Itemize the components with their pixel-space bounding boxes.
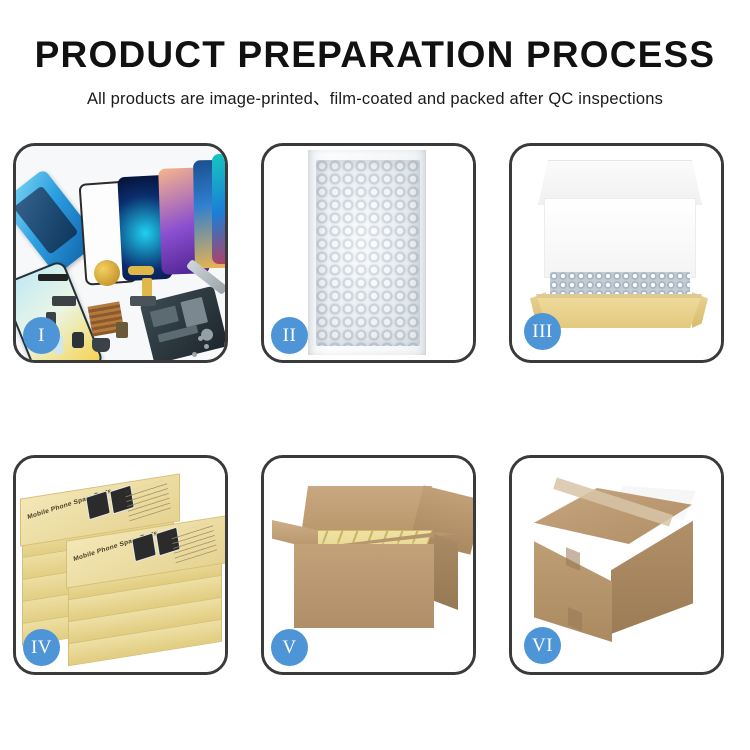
box-spec-lines: [125, 479, 171, 521]
foam-sheet: [544, 198, 696, 278]
steps-row-1: I II: [13, 143, 739, 363]
box-screen-image: [85, 490, 110, 520]
page-title: PRODUCT PREPARATION PROCESS: [0, 34, 750, 76]
steps-grid: I II: [13, 143, 739, 675]
steps-row-2: Mobile Phone Spare Parts Mobile Phone Sp…: [13, 455, 739, 675]
product-preparation-infographic: PRODUCT PREPARATION PROCESS All products…: [0, 0, 750, 750]
box-screen-image: [131, 532, 156, 562]
step-card-3[interactable]: III: [509, 143, 724, 363]
step-card-2[interactable]: II: [261, 143, 476, 363]
carton-right-side: [434, 534, 458, 610]
step-card-5[interactable]: V: [261, 455, 476, 675]
carton-front-face: [294, 544, 434, 628]
step-badge-6: VI: [524, 627, 561, 664]
speaker-part-icon: [94, 260, 120, 286]
step-badge-5: V: [271, 629, 308, 666]
bubble-wrap-edges: [308, 150, 426, 355]
step-card-6[interactable]: VI: [509, 455, 724, 675]
step-card-1[interactable]: I: [13, 143, 228, 363]
box-stack: Mobile Phone Spare Parts Mobile Phone Sp…: [20, 476, 224, 656]
box-spec-lines: [171, 521, 217, 563]
step-badge-2: II: [271, 317, 308, 354]
step-card-4[interactable]: Mobile Phone Spare Parts Mobile Phone Sp…: [13, 455, 228, 675]
step-badge-3: III: [524, 313, 561, 350]
phone-screen-teal: [212, 154, 225, 264]
box-tray-front: [536, 294, 702, 328]
step-badge-1: I: [23, 317, 60, 354]
step-badge-4: IV: [23, 629, 60, 666]
page-subtitle: All products are image-printed、film-coat…: [0, 85, 750, 109]
